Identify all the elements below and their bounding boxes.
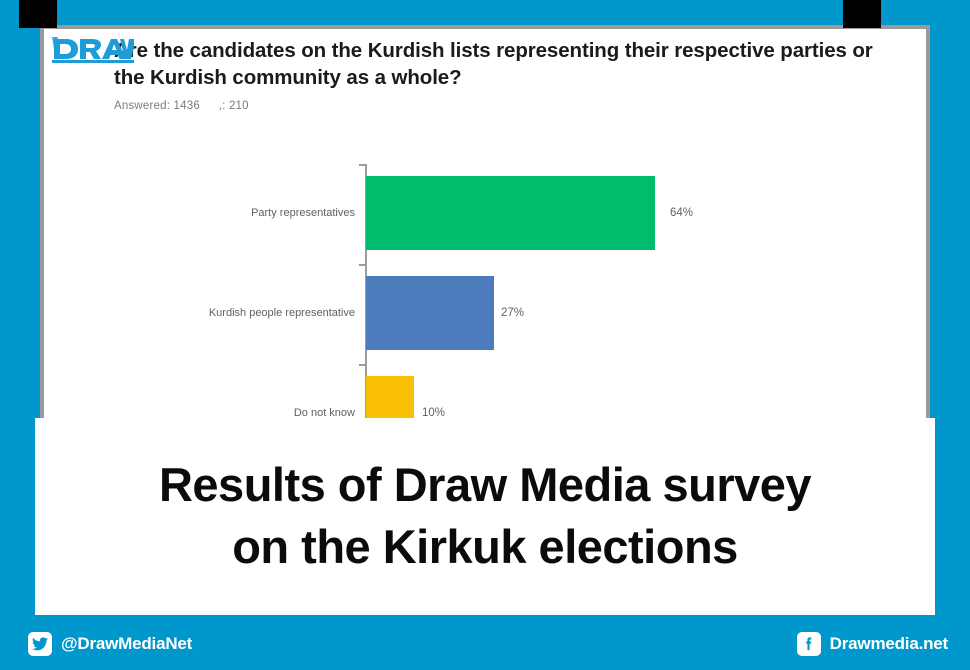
poster-canvas: Are the candidates on the Kurdish lists … (0, 0, 970, 670)
bar-segment (366, 276, 494, 350)
skipped-count: 210 (229, 100, 249, 112)
bar-value-label: 27% (501, 307, 524, 319)
bar-label-wrap: Kurdish people representative (125, 276, 365, 350)
facebook-f-icon[interactable] (797, 632, 821, 656)
corner-accent-right (843, 0, 881, 28)
facebook-handle-text: Drawmedia.net (830, 634, 948, 654)
bar-category-label: Kurdish people representative (125, 307, 365, 319)
corner-accent-left (19, 0, 57, 28)
question-block: Are the candidates on the Kurdish lists … (114, 37, 904, 112)
response-counts: Answered: 1436 ,: 210 (114, 100, 904, 112)
twitter-bird-icon[interactable] (28, 632, 52, 656)
bar-segment (366, 176, 655, 250)
facebook-handle-group[interactable]: Drawmedia.net (797, 632, 948, 656)
bar-row: Party representatives 64% (44, 176, 930, 250)
answered-label: Answered: (114, 100, 170, 112)
question-title: Are the candidates on the Kurdish lists … (114, 37, 904, 91)
bar-row: Kurdish people representative 27% (44, 276, 930, 350)
survey-bar-chart: Party representatives 64% Kurdish people… (44, 129, 930, 425)
bar-category-label: Party representatives (125, 207, 365, 219)
twitter-handle-group[interactable]: @DrawMediaNet (28, 632, 192, 656)
poster-title-line-2: on the Kirkuk elections (35, 516, 935, 578)
bar-label-wrap: Party representatives (125, 176, 365, 250)
poster-title: Results of Draw Media survey on the Kirk… (35, 454, 935, 578)
poster-title-line-1: Results of Draw Media survey (35, 454, 935, 516)
skipped-label: ,: (219, 100, 226, 112)
axis-tick (359, 164, 365, 166)
axis-tick (359, 264, 365, 266)
bar-value-label: 64% (670, 207, 693, 219)
answered-count: 1436 (174, 100, 200, 112)
title-banner: Results of Draw Media survey on the Kirk… (35, 418, 935, 615)
survey-screenshot-card: Are the candidates on the Kurdish lists … (40, 25, 930, 425)
axis-tick (359, 364, 365, 366)
footer-bar: @DrawMediaNet Drawmedia.net (0, 620, 970, 670)
twitter-handle-text: @DrawMediaNet (61, 634, 192, 654)
chart-plot-area: Party representatives 64% Kurdish people… (44, 129, 930, 425)
